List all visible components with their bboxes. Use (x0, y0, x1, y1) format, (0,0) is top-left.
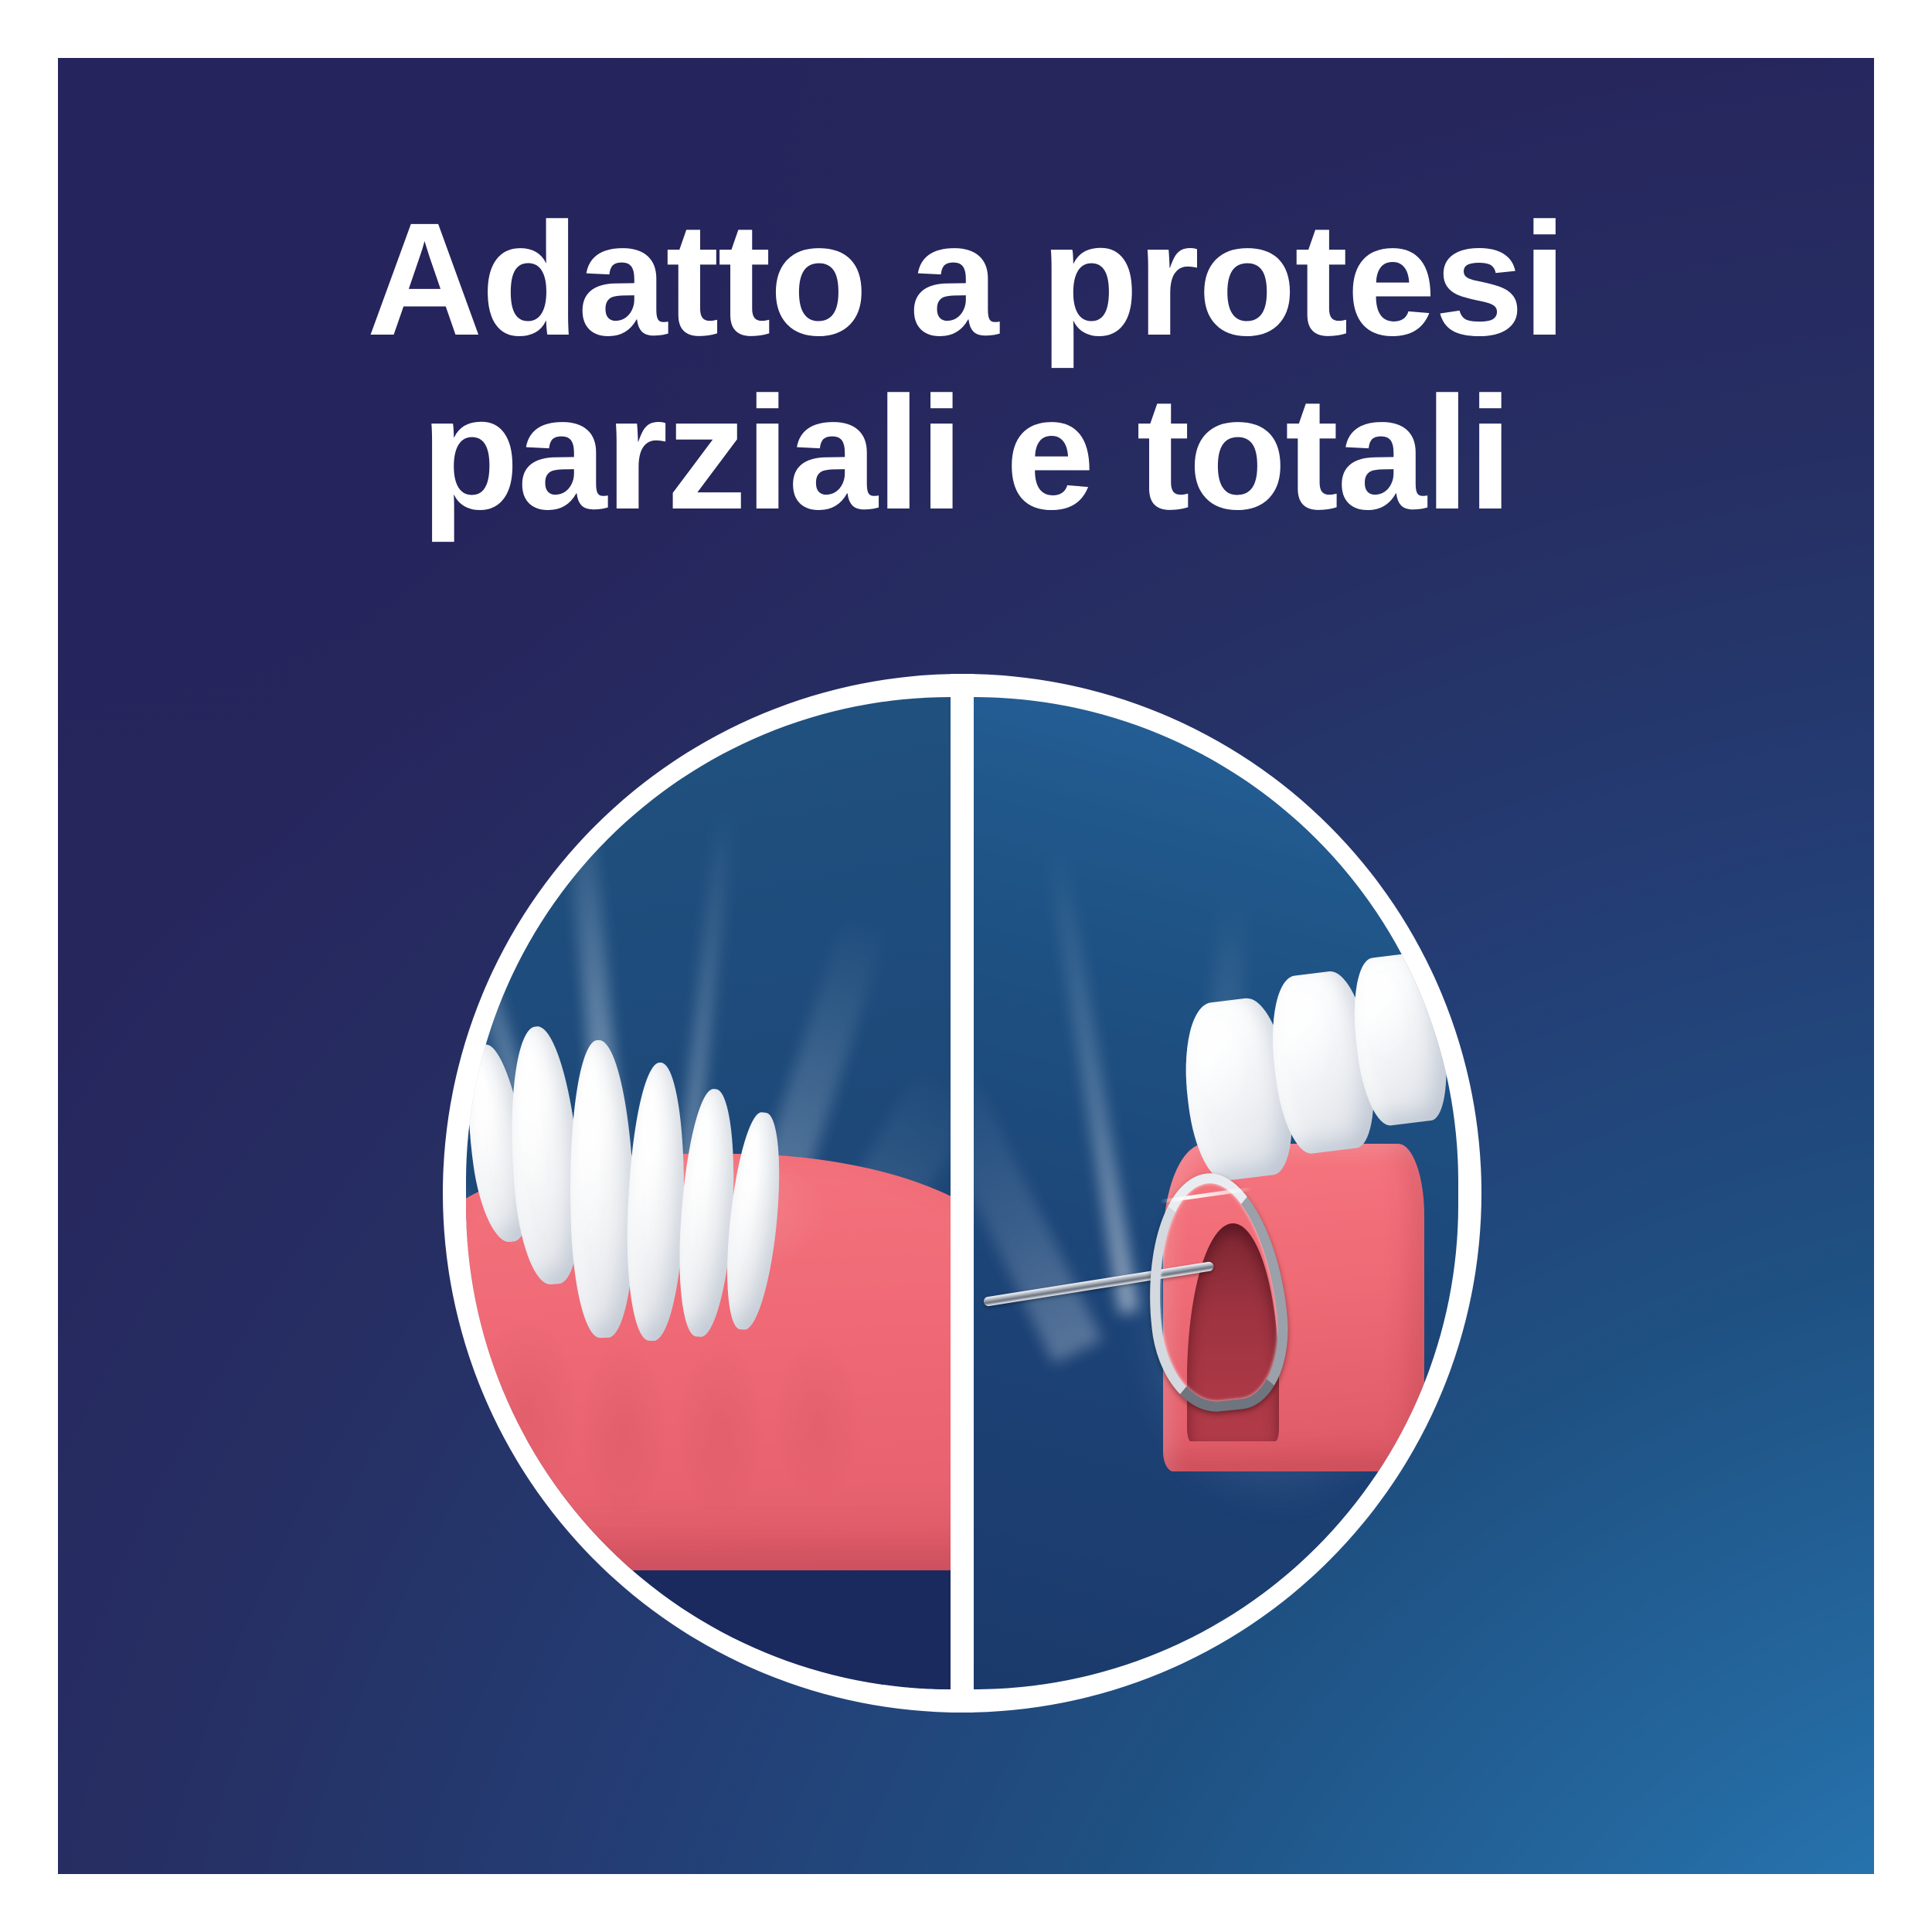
right-panel-partial-denture (974, 697, 1458, 1689)
gradient-background-panel: Adatto a protesi parziali e totali (58, 58, 1874, 1874)
page-title: Adatto a protesi parziali e totali (58, 193, 1874, 540)
circle-vertical-divider (951, 674, 974, 1713)
headline-line-2: parziali e totali (58, 367, 1874, 541)
split-circle-illustration (443, 674, 1481, 1713)
headline-line-1: Adatto a protesi (58, 193, 1874, 367)
left-panel-natural-teeth (466, 697, 951, 1689)
poster-canvas: Adatto a protesi parziali e totali (0, 0, 1932, 1932)
